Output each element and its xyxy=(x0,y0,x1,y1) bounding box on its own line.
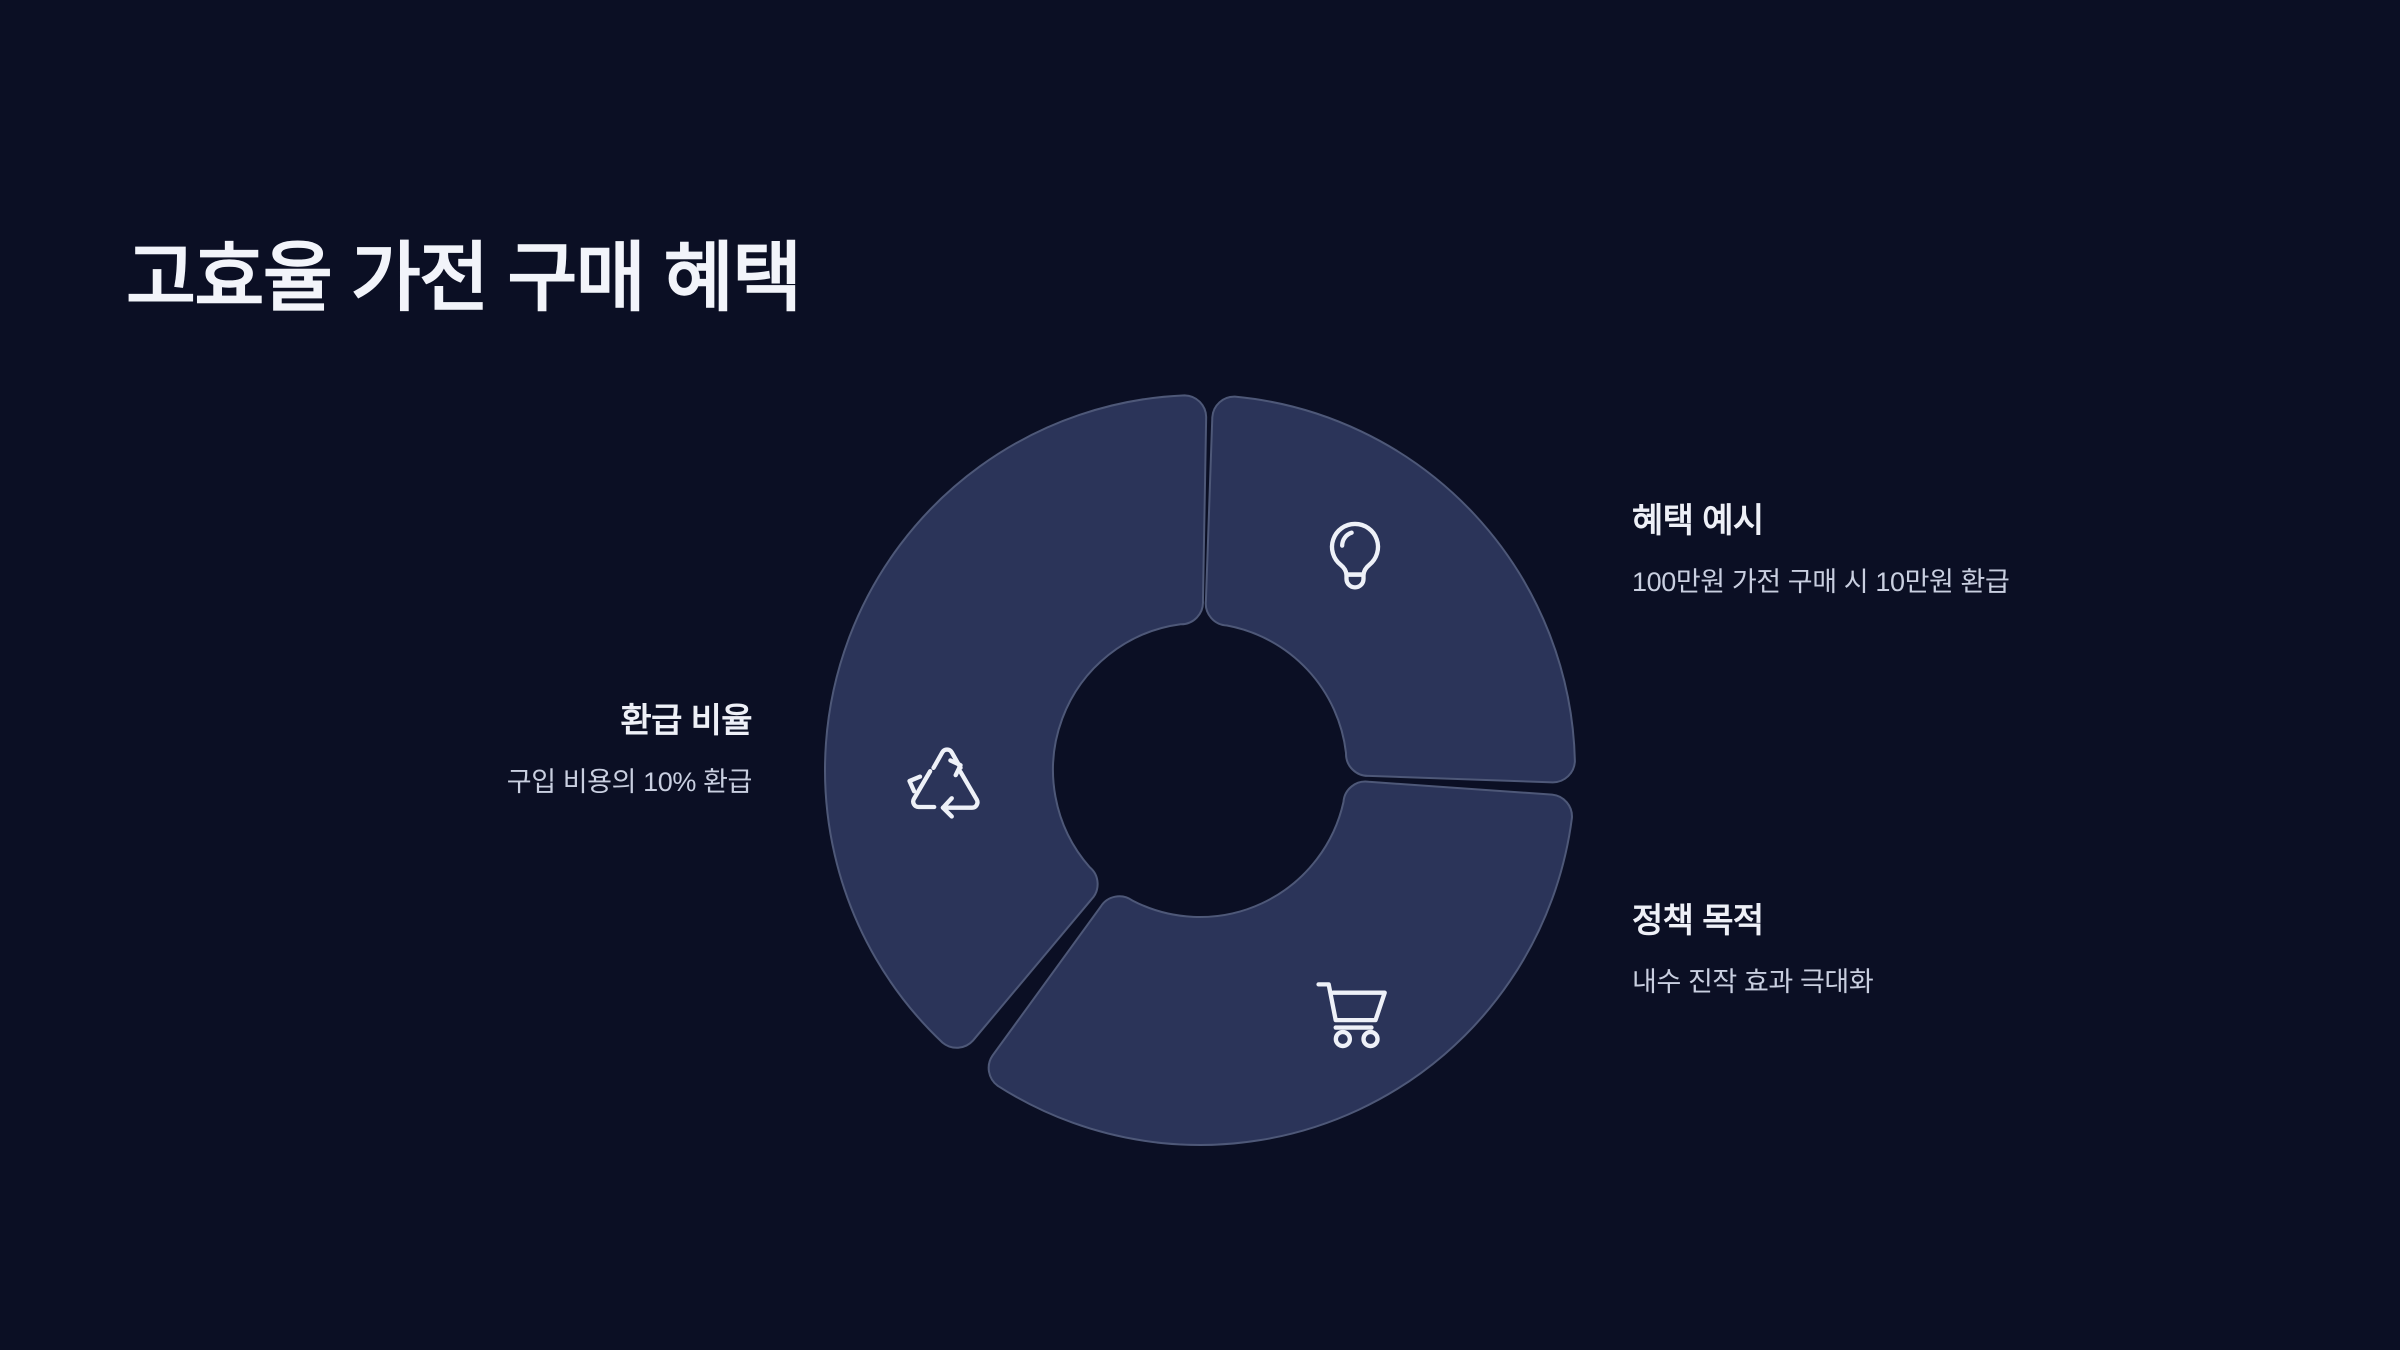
callout-benefit-example[interactable]: 혜택 예시 100만원 가전 구매 시 10만원 환급 xyxy=(1632,500,2009,600)
callout-description: 내수 진작 효과 극대화 xyxy=(1632,965,1873,1000)
callout-title: 정책 목적 xyxy=(1632,900,1873,943)
slide-canvas: 고효율 가전 구매 혜택 혜택 예시 100만원 가전 구매 시 10만원 환급 xyxy=(0,0,2400,1350)
page-title: 고효율 가전 구매 혜택 xyxy=(126,237,801,321)
donut-segment-group xyxy=(825,395,1575,1145)
callout-description: 100만원 가전 구매 시 10만원 환급 xyxy=(1632,565,2009,600)
donut-chart xyxy=(0,0,2400,1350)
callout-description: 구입 비용의 10% 환급 xyxy=(507,765,752,800)
donut-segment-혜택-예시[interactable] xyxy=(1206,397,1575,783)
callout-title: 혜택 예시 xyxy=(1632,500,2009,543)
callout-title: 환급 비율 xyxy=(507,700,752,743)
callout-refund-rate[interactable]: 환급 비율 구입 비용의 10% 환급 xyxy=(507,700,752,800)
callout-policy-goal[interactable]: 정책 목적 내수 진작 효과 극대화 xyxy=(1632,900,1873,1000)
donut-segment-정책-목적[interactable] xyxy=(989,782,1572,1145)
